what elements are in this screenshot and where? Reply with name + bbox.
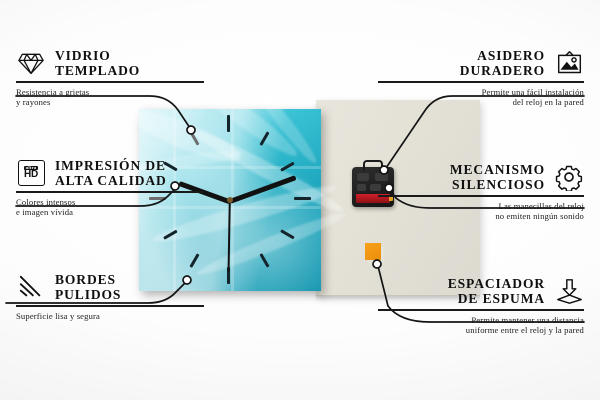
feature-title-line1: BORDES bbox=[55, 272, 121, 287]
feature-description: Las manecillas del reloj no emiten ningú… bbox=[378, 201, 584, 222]
feature-title: IMPRESIÓN DE ALTA CALIDAD bbox=[55, 158, 167, 188]
feature-title-line1: IMPRESIÓN DE bbox=[55, 158, 167, 173]
feature-title-line2: DE ESPUMA bbox=[448, 291, 545, 306]
feature-vidrio-templado: VIDRIO TEMPLADO Resistencia a grietas y … bbox=[16, 48, 222, 108]
feature-title: VIDRIO TEMPLADO bbox=[55, 48, 140, 78]
feature-description: Colores intensos e imagen vívida bbox=[16, 197, 222, 218]
feature-impresion-alta-calidad: ultra HD IMPRESIÓN DE ALTA CALIDAD Color… bbox=[16, 158, 222, 218]
feature-desc-line1: Permite una fácil instalación bbox=[378, 87, 584, 98]
feature-title-line1: ASIDERO bbox=[460, 48, 545, 63]
feature-description: Resistencia a grietas y rayones bbox=[16, 87, 222, 108]
feature-desc-line2: uniforme entre el reloj y la pared bbox=[378, 325, 584, 336]
hd-main-label: HD bbox=[24, 170, 38, 180]
feature-desc-line2: del reloj en la pared bbox=[378, 97, 584, 108]
feature-desc-line1: Las manecillas del reloj bbox=[378, 201, 584, 212]
divider bbox=[378, 81, 584, 83]
diamond-icon bbox=[16, 48, 46, 78]
feature-title-line2: PULIDOS bbox=[55, 287, 121, 302]
connector-dot-espaciador bbox=[373, 260, 381, 268]
connector-dot-vidrio bbox=[187, 126, 195, 134]
feature-asidero-duradero: ASIDERO DURADERO Permite una fácil insta… bbox=[378, 48, 584, 108]
polished-edges-icon bbox=[16, 272, 46, 302]
feature-title: MECANISMO SILENCIOSO bbox=[450, 162, 545, 192]
feature-description: Permite una fácil instalación del reloj … bbox=[378, 87, 584, 108]
feature-description: Permite mantener una distancia uniforme … bbox=[378, 315, 584, 336]
feature-title-line1: MECANISMO bbox=[450, 162, 545, 177]
feature-desc-line2: y rayones bbox=[16, 97, 222, 108]
divider bbox=[16, 81, 204, 83]
feature-title-line2: DURADERO bbox=[460, 63, 545, 78]
feature-desc-line2: e imagen vívida bbox=[16, 207, 222, 218]
feature-mecanismo-silencioso: MECANISMO SILENCIOSO Las manecillas del … bbox=[378, 162, 584, 222]
feature-desc-line1: Resistencia a grietas bbox=[16, 87, 222, 98]
gear-icon bbox=[554, 162, 584, 192]
divider bbox=[378, 309, 584, 311]
divider bbox=[16, 305, 204, 307]
feature-desc-line1: Colores intensos bbox=[16, 197, 222, 208]
feature-title-line1: ESPACIADOR bbox=[448, 276, 545, 291]
foam-spacer-arrow-icon bbox=[554, 276, 584, 306]
feature-title-line1: VIDRIO bbox=[55, 48, 140, 63]
divider bbox=[378, 195, 584, 197]
feature-description: Superficie lisa y segura bbox=[16, 311, 222, 322]
product-infographic: VIDRIO TEMPLADO Resistencia a grietas y … bbox=[0, 0, 600, 400]
divider bbox=[16, 191, 204, 193]
feature-bordes-pulidos: BORDES PULIDOS Superficie lisa y segura bbox=[16, 272, 222, 321]
feature-desc-line1: Superficie lisa y segura bbox=[16, 311, 222, 322]
ultra-hd-badge-icon: ultra HD bbox=[16, 158, 46, 188]
feature-title: ESPACIADOR DE ESPUMA bbox=[448, 276, 545, 306]
feature-espaciador-de-espuma: ESPACIADOR DE ESPUMA Permite mantener un… bbox=[378, 276, 584, 336]
feature-title: BORDES PULIDOS bbox=[55, 272, 121, 302]
feature-title-line2: TEMPLADO bbox=[55, 63, 140, 78]
feature-title-line2: ALTA CALIDAD bbox=[55, 173, 167, 188]
feature-title-line2: SILENCIOSO bbox=[450, 177, 545, 192]
feature-desc-line1: Permite mantener una distancia bbox=[378, 315, 584, 326]
feature-title: ASIDERO DURADERO bbox=[460, 48, 545, 78]
feature-desc-line2: no emiten ningún sonido bbox=[378, 211, 584, 222]
picture-frame-hanger-icon bbox=[554, 48, 584, 78]
